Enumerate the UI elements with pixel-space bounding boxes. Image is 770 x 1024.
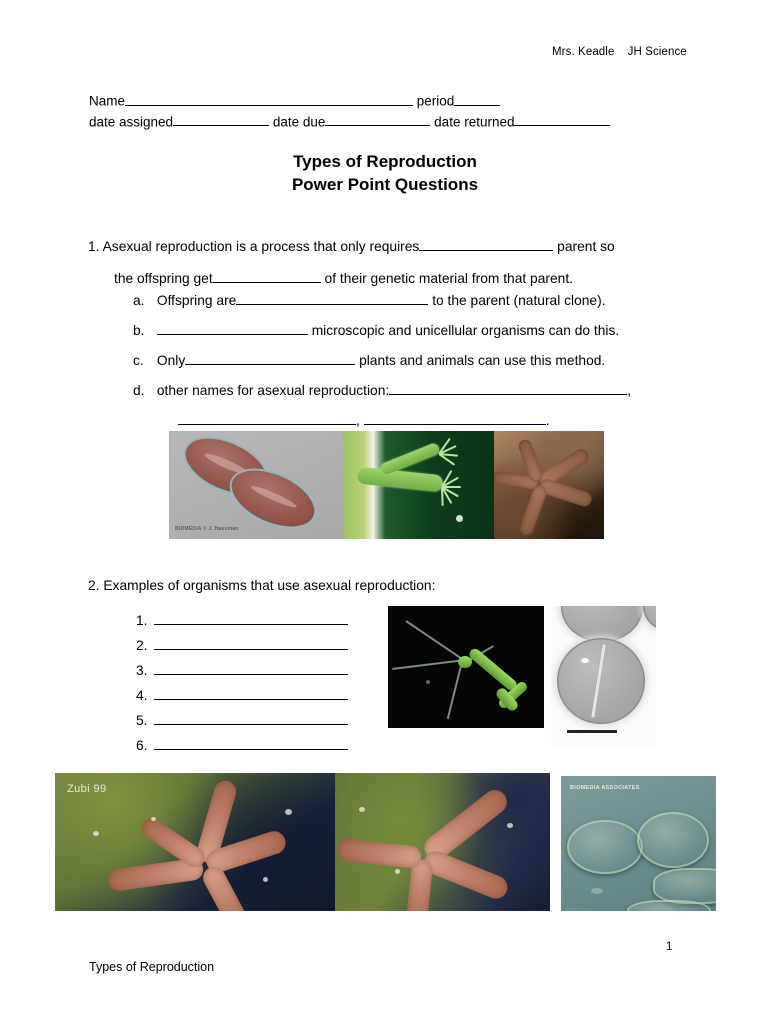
- sea-star-large-image-left: Zubi 99: [55, 773, 335, 911]
- answer-1-blank[interactable]: [154, 610, 348, 625]
- sub-item-c-marker: c.: [133, 346, 153, 376]
- sub-item-a-blank[interactable]: [236, 290, 428, 305]
- sub-item-d-blank-1[interactable]: [389, 380, 627, 395]
- reef-speck: [93, 831, 99, 836]
- sub-item-a-marker: a.: [133, 286, 153, 316]
- header-teacher-info: Mrs. Keadle JH Science: [552, 46, 687, 58]
- title-line-2: Power Point Questions: [0, 173, 770, 196]
- hydra-stalk: [467, 647, 519, 693]
- answer-line-6: 6.: [136, 733, 348, 758]
- yeast-budding-micrograph: BIOMEDIA ASSOCIATES: [561, 776, 716, 911]
- zubi-watermark: Zubi 99: [67, 783, 107, 795]
- answer-3-number: 3.: [136, 658, 154, 683]
- hydra-debris: [426, 680, 430, 684]
- question-2-number: 2.: [88, 578, 100, 593]
- page-title: Types of Reproduction Power Point Questi…: [0, 150, 770, 196]
- answer-6-number: 6.: [136, 733, 154, 758]
- sub-item-c: c. Only plants and animals can use this …: [133, 346, 693, 376]
- period-label: period: [417, 94, 455, 109]
- biomedia-watermark: BIOMEDIA ASSOCIATES: [570, 785, 640, 791]
- sub-item-b-marker: b.: [133, 316, 153, 346]
- reef-speck: [359, 807, 365, 812]
- hydra-tentacle-long: [447, 663, 462, 720]
- sub-item-d-blank-3[interactable]: [364, 410, 546, 425]
- answer-line-1: 1.: [136, 608, 348, 633]
- sub-item-a-text-b: to the parent (natural clone).: [432, 293, 605, 308]
- sub-item-d-text-a: other names for asexual reproduction:: [157, 383, 389, 398]
- name-blank[interactable]: [125, 91, 413, 106]
- hydra-budding-green-image: [343, 431, 494, 539]
- sub-item-c-text-a: Only: [157, 353, 185, 368]
- reef-speck: [151, 817, 156, 821]
- period-blank[interactable]: [454, 91, 500, 106]
- answer-2-number: 2.: [136, 633, 154, 658]
- answer-1-number: 1.: [136, 608, 154, 633]
- sub-item-c-text-b: plants and animals can use this method.: [359, 353, 605, 368]
- sea-star-arm: [421, 848, 511, 902]
- date-due-label: date due: [273, 114, 326, 129]
- question-1-text-b: parent so: [557, 239, 615, 254]
- reef-speck: [263, 877, 268, 882]
- sub-item-d-comma: ,: [627, 383, 631, 398]
- bacteria-binary-fission-micrograph: [551, 606, 656, 746]
- answer-4-number: 4.: [136, 683, 154, 708]
- question-2-text: Examples of organisms that use asexual r…: [103, 578, 435, 593]
- answer-2-blank[interactable]: [154, 635, 348, 650]
- sea-star-arm: [518, 484, 549, 538]
- bacterium-upper: [561, 606, 643, 642]
- name-period-row: Name period: [89, 91, 610, 112]
- sub-item-b-blank[interactable]: [157, 320, 308, 335]
- question-1-sublist: a. Offspring are to the parent (natural …: [133, 286, 693, 436]
- question-1-line-1: 1. Asexual reproduction is a process tha…: [88, 231, 688, 263]
- sub-item-b-text-b: microscopic and unicellular organisms ca…: [312, 323, 620, 338]
- bacterium-corner: [643, 606, 656, 630]
- footer-document-name: Types of Reproduction: [89, 960, 214, 974]
- question-1-blank-1[interactable]: [419, 236, 553, 251]
- sea-star-reef-image: [494, 431, 604, 539]
- sea-star-arm: [336, 838, 422, 869]
- answer-4-blank[interactable]: [154, 685, 348, 700]
- dates-row: date assigned date due date returned: [89, 112, 610, 133]
- sub-item-d-blank-2[interactable]: [178, 410, 356, 425]
- sub-item-d: d. other names for asexual reproduction:…: [133, 376, 693, 406]
- date-returned-blank[interactable]: [514, 112, 610, 127]
- answer-line-5: 5.: [136, 708, 348, 733]
- answer-6-blank[interactable]: [154, 735, 348, 750]
- micrograph-highlight: [581, 658, 589, 663]
- answer-line-4: 4.: [136, 683, 348, 708]
- question-1-blank-2[interactable]: [213, 268, 321, 283]
- paramecium-binary-fission-image: BIOMEDIA © J. Hausman: [169, 431, 343, 539]
- cell-left: [567, 820, 643, 874]
- answer-3-blank[interactable]: [154, 660, 348, 675]
- date-assigned-label: date assigned: [89, 114, 173, 129]
- worksheet-page: Mrs. Keadle JH Science Name period date …: [0, 0, 770, 1024]
- cell-right: [637, 812, 709, 868]
- question-1-text-a: Asexual reproduction is a process that o…: [103, 239, 420, 254]
- date-returned-label: date returned: [434, 114, 514, 129]
- title-line-1: Types of Reproduction: [0, 150, 770, 173]
- page-number: 1: [666, 941, 672, 953]
- answer-5-number: 5.: [136, 708, 154, 733]
- hydra-green-body: [356, 467, 443, 493]
- question-2: 2. Examples of organisms that use asexua…: [88, 578, 435, 593]
- sub-item-b: b. microscopic and unicellular organisms…: [133, 316, 693, 346]
- scale-bar: [567, 730, 617, 733]
- sub-item-c-blank[interactable]: [185, 350, 355, 365]
- sub-item-a: a. Offspring are to the parent (natural …: [133, 286, 693, 316]
- hydra-tentacle-long: [406, 620, 468, 663]
- sub-item-d-separator: ,: [356, 413, 360, 428]
- date-assigned-blank[interactable]: [173, 112, 269, 127]
- sea-star-arm: [199, 863, 255, 911]
- answer-line-3: 3.: [136, 658, 348, 683]
- name-date-block: Name period date assigned date due date …: [89, 91, 610, 132]
- question-1-line2-text-b: of their genetic material from that pare…: [325, 271, 573, 286]
- hydra-green-marker: [456, 515, 463, 522]
- sub-item-a-text-a: Offspring are: [157, 293, 237, 308]
- question-2-answer-list: 1. 2. 3. 4. 5. 6.: [136, 608, 348, 758]
- name-label: Name: [89, 94, 125, 109]
- cell-bottom: [627, 900, 711, 911]
- sea-star-large-image-right: [335, 773, 550, 911]
- reef-speck: [395, 869, 400, 874]
- cell-lower-right: [653, 868, 716, 904]
- date-due-blank[interactable]: [325, 112, 430, 127]
- question-1-line2-text-a: the offspring get: [114, 271, 213, 286]
- sub-item-d-period: .: [546, 413, 550, 428]
- paramecium-caption: BIOMEDIA © J. Hausman: [175, 526, 239, 532]
- sub-item-d-marker: d.: [133, 376, 153, 406]
- question-1-number: 1.: [88, 239, 100, 254]
- answer-5-blank[interactable]: [154, 710, 348, 725]
- cell-fragment: [591, 888, 603, 894]
- hydra-black-background-image: [388, 606, 544, 728]
- reef-speck: [285, 809, 292, 815]
- answer-line-2: 2.: [136, 633, 348, 658]
- reef-speck: [507, 823, 513, 828]
